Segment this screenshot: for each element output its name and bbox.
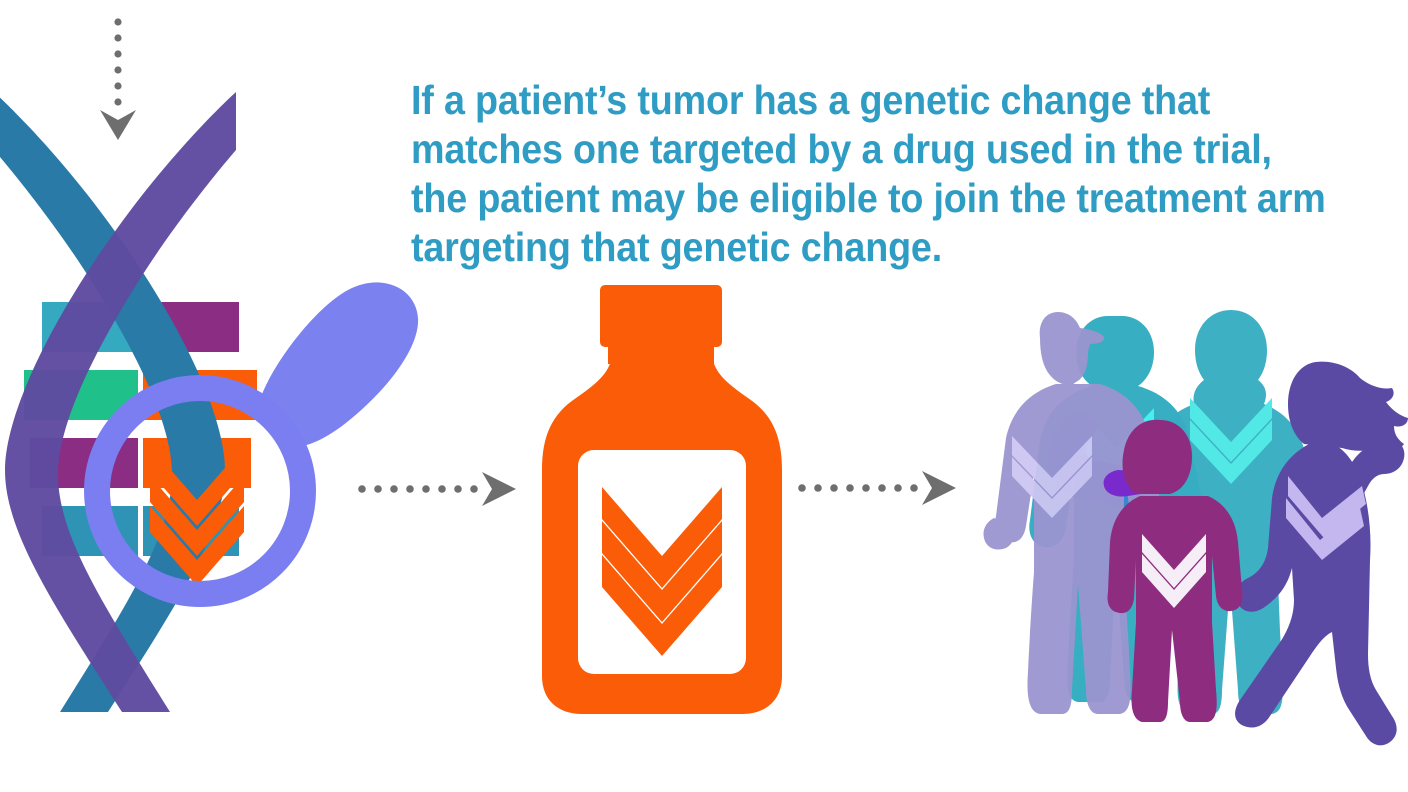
base-pair-1-right bbox=[143, 302, 239, 352]
bottle-label bbox=[578, 450, 746, 674]
magnifier-chevron-1 bbox=[150, 446, 244, 526]
magnifier-ring bbox=[97, 388, 303, 594]
bottle-chevron-2 bbox=[602, 521, 722, 622]
base-pair-3-left bbox=[30, 438, 138, 488]
arrow-dna-to-bottle-head bbox=[482, 472, 516, 506]
person-purple-right bbox=[1235, 362, 1408, 746]
page-headline: If a patient’s tumor has a genetic chang… bbox=[411, 76, 1326, 272]
bottle-body bbox=[542, 352, 782, 714]
base-pair-2-right bbox=[143, 370, 257, 420]
bottle-label-chevrons bbox=[602, 487, 722, 656]
bottle-cap bbox=[600, 285, 722, 347]
dna-strand-blue bbox=[0, 92, 225, 712]
person-cap-lavender bbox=[983, 312, 1163, 714]
arrow-top-down-dots bbox=[114, 18, 121, 105]
dna-base-pairs bbox=[24, 302, 257, 556]
base-pair-4-right bbox=[143, 506, 239, 556]
infographic-canvas: If a patient’s tumor has a genetic chang… bbox=[0, 0, 1408, 792]
person-child-magenta bbox=[1104, 420, 1243, 722]
arrow-top-down-head bbox=[100, 110, 136, 140]
base-pair-2-left bbox=[24, 370, 138, 420]
arrow-dna-to-bottle-dots bbox=[358, 485, 478, 493]
base-pair-3-right bbox=[143, 438, 251, 488]
arrow-bottle-to-people-dots bbox=[798, 484, 918, 492]
dna-strand-purple bbox=[5, 92, 236, 712]
bottle-chevron-3 bbox=[602, 555, 722, 656]
arrow-bottle-to-people-head bbox=[922, 471, 956, 505]
magnifier-chevrons bbox=[150, 446, 244, 586]
magnifier-chevron-3 bbox=[150, 506, 244, 586]
bottle-neck bbox=[608, 340, 714, 364]
person-teal-right bbox=[1140, 310, 1320, 714]
base-pair-1-left bbox=[42, 302, 138, 352]
base-pair-4-left bbox=[42, 506, 138, 556]
magnifier-chevron-2 bbox=[150, 476, 244, 556]
magnifier-handle bbox=[262, 282, 418, 446]
person-teal-left bbox=[1029, 316, 1206, 702]
bottle-chevron-1 bbox=[602, 487, 722, 588]
